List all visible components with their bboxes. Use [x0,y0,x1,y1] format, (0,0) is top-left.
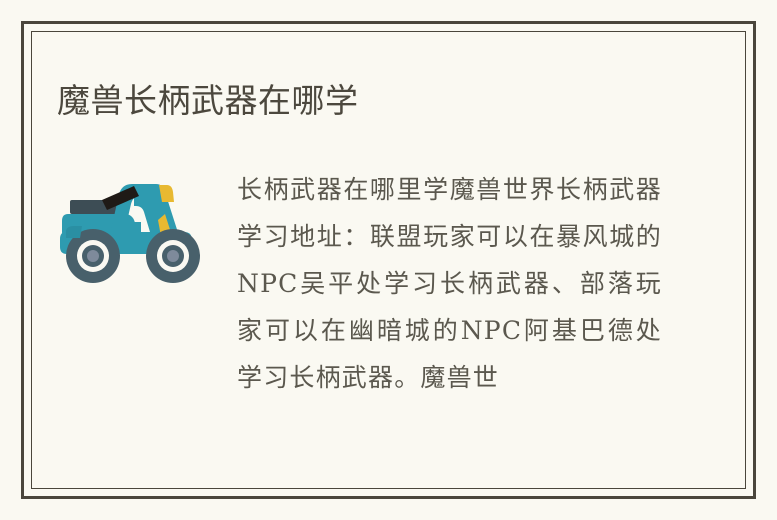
article-body-text: 长柄武器在哪里学魔兽世界长柄武器学习地址：联盟玩家可以在暴风城的NPC吴平处学习… [237,166,662,401]
content-row: 长柄武器在哪里学魔兽世界长柄武器学习地址：联盟玩家可以在暴风城的NPC吴平处学习… [55,160,675,420]
page-title: 魔兽长柄武器在哪学 [57,79,697,123]
article-card-page: 魔兽长柄武器在哪学 [0,0,777,520]
scooter-icon [60,170,210,295]
